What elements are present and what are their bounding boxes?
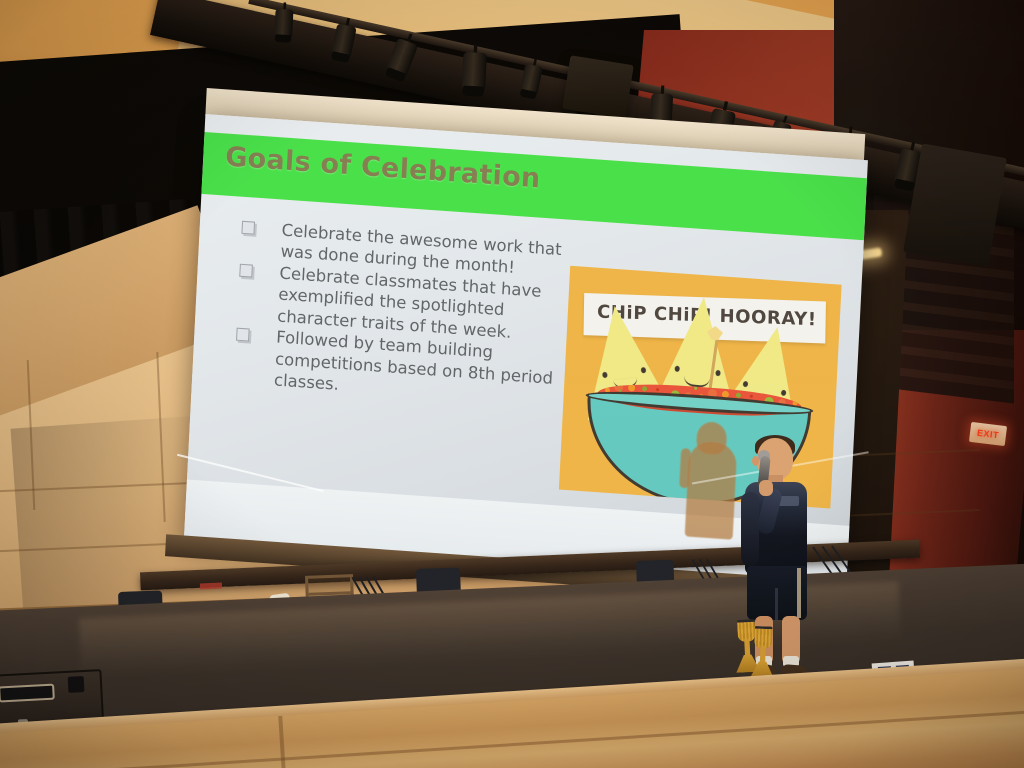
exit-sign: EXIT [969,422,1007,446]
checkbox-icon [236,328,250,342]
salsa-bit [694,387,697,390]
checkbox-icon [239,264,253,278]
exit-sign-label: EXIT [976,428,999,441]
hand [759,480,773,496]
auditorium-scene: Goals of Celebration Celebrate the aweso… [0,0,1024,768]
salsa-bit [788,393,791,396]
salsa-bit [656,388,659,391]
case-handle[interactable] [0,684,55,703]
salsa-bit [750,395,753,398]
salsa-bit [642,386,647,391]
slide-bullet-list: Celebrate the awesome work that was done… [226,216,564,410]
checkbox-icon [241,221,255,235]
presenter-shadow-body [685,440,738,539]
shorts-trim [797,568,801,618]
shorts-split [775,588,778,620]
ledge-label [200,583,222,590]
tortilla-chips [570,266,841,285]
left-arm [741,492,759,566]
salsa-bit [600,380,603,383]
salsa-bit [628,384,635,391]
